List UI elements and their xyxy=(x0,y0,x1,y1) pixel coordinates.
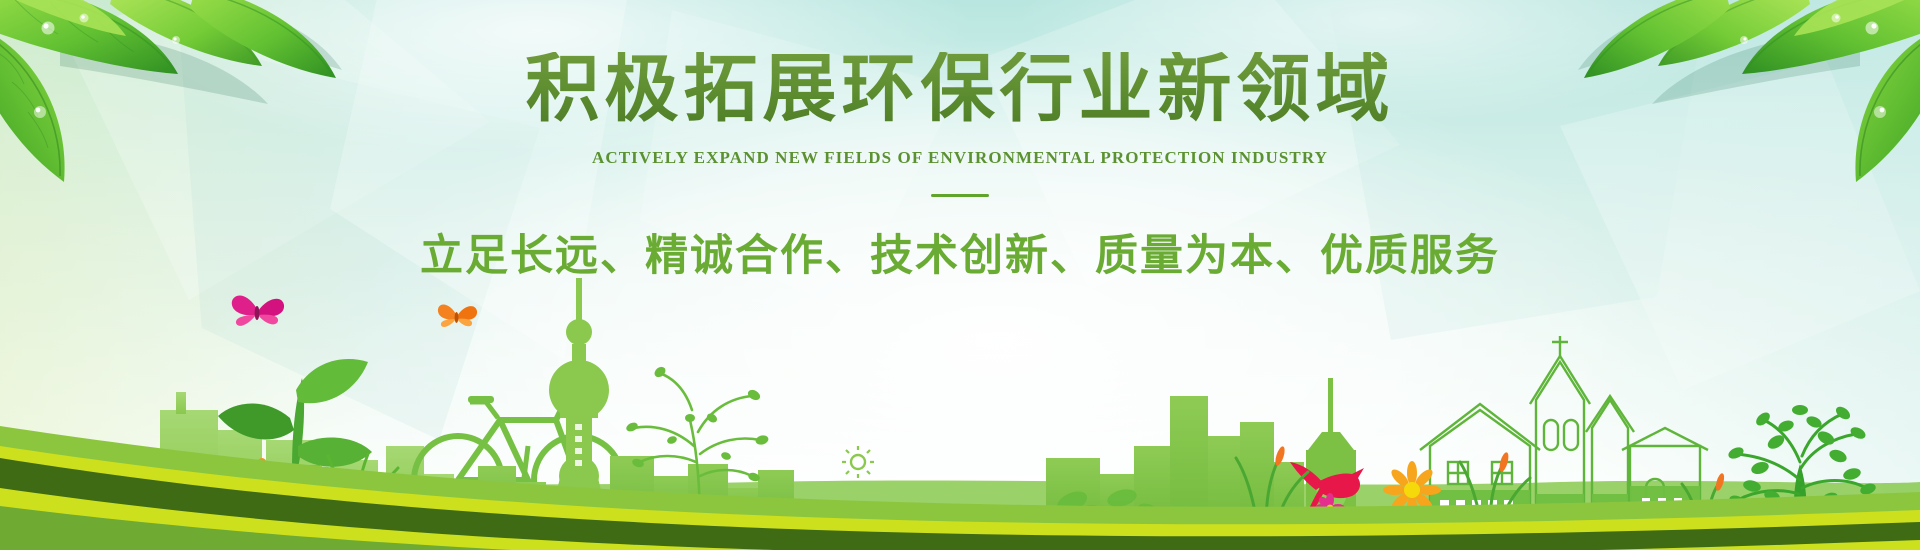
headline-block: 积极拓展环保行业新领域 ACTIVELY EXPAND NEW FIELDS O… xyxy=(0,52,1920,283)
subtitle-english: ACTIVELY EXPAND NEW FIELDS OF ENVIRONMEN… xyxy=(0,148,1920,168)
page-title: 积极拓展环保行业新领域 xyxy=(0,52,1920,130)
orange-butterfly xyxy=(434,296,480,334)
title-divider xyxy=(931,194,989,197)
tagline-chinese: 立足长远、精诚合作、技术创新、质量为本、优质服务 xyxy=(0,221,1920,283)
wave-bands xyxy=(0,380,1920,550)
pink-butterfly xyxy=(228,285,288,335)
eco-banner: 积极拓展环保行业新领域 ACTIVELY EXPAND NEW FIELDS O… xyxy=(0,0,1920,550)
